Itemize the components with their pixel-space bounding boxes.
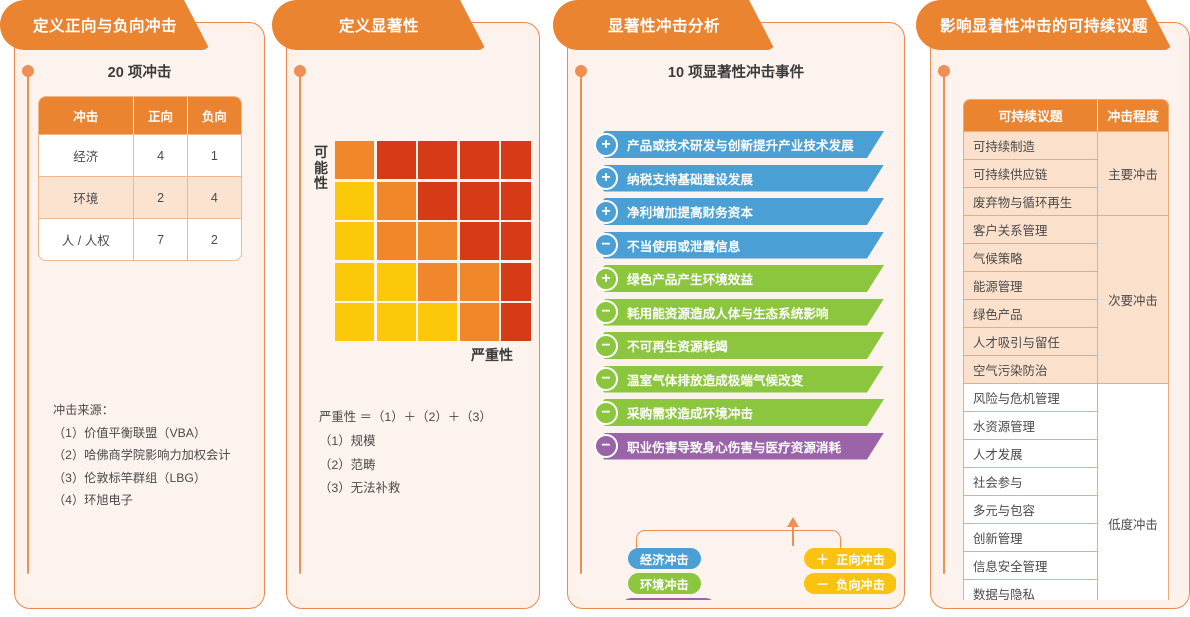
heatmap-cell-r1-c5 <box>501 141 531 179</box>
salient-impact-list: +产品或技术研发与创新提升产业技术发展+纳税支持基础建设发展+净利增加提高财务资… <box>594 131 888 466</box>
heatmap-cell-r1-c4 <box>460 141 499 179</box>
panel-3-title: 显著性冲击分析 <box>608 14 720 36</box>
cell-positive: 4 <box>134 134 188 176</box>
cell-negative: 1 <box>188 134 240 176</box>
panel-define-salience: 可能性 严重性 严重性 ＝（1）＋（2）＋（3） （1）规模 （2）范畴 （3）… <box>272 0 540 617</box>
minus-icon: － <box>816 574 829 593</box>
impact-bar[interactable]: −职业伤害导致身心伤害与医疗资源消耗 <box>594 433 888 460</box>
minus-circle-icon: − <box>594 367 618 391</box>
col-topic: 可持续议题 <box>964 100 1098 131</box>
panel-4-spine-dot <box>938 65 950 77</box>
panel-3-inner: 10 项显著性冲击事件 +产品或技术研发与创新提升产业技术发展+纳税支持基础建设… <box>576 31 896 600</box>
heatmap-cell-r1-c1 <box>335 141 374 179</box>
impact-bar[interactable]: +产品或技术研发与创新提升产业技术发展 <box>594 131 888 158</box>
impact-bar-label: 职业伤害导致身心伤害与医疗资源消耗 <box>627 437 841 456</box>
panel-4-title: 影响显着性冲击的可持续议题 <box>940 14 1148 36</box>
impact-sources: 冲击来源： （1）价值平衡联盟（VBA） （2）哈佛商学院影响力加权会计 （3）… <box>53 399 240 512</box>
table-row: 风险与危机管理低度冲击 <box>964 383 1168 411</box>
minus-circle-icon: − <box>594 434 618 458</box>
heatmap-cell-r5-c5 <box>501 303 531 341</box>
cell-topic: 能源管理 <box>964 271 1098 299</box>
heatmap-cell-r2-c1 <box>335 182 374 220</box>
impact-bar-label: 耗用能资源造成人体与生态系统影响 <box>627 303 829 322</box>
cell-topic: 可持续制造 <box>964 131 1098 159</box>
impact-bar[interactable]: −不当使用或泄露信息 <box>594 232 888 259</box>
infographic-stage: 20 项冲击 冲击 正向 负向 经济 <box>0 0 1190 617</box>
impact-bar[interactable]: +绿色产品产生环境效益 <box>594 265 888 292</box>
heatmap-cell-r4-c4 <box>460 263 499 301</box>
severity-formula: 严重性 ＝（1）＋（2）＋（3） <box>319 406 517 430</box>
panel-2-header-tab: 定义显著性 <box>272 0 486 50</box>
impact-bar-label: 绿色产品产生环境效益 <box>627 269 753 288</box>
cell-topic: 数据与隐私 <box>964 579 1098 600</box>
impact-bar[interactable]: +纳税支持基础建设发展 <box>594 165 888 192</box>
minus-circle-icon: − <box>594 334 618 358</box>
heatmap-cell-r4-c3 <box>418 263 457 301</box>
panel-1-body: 20 项冲击 冲击 正向 负向 经济 <box>14 22 265 609</box>
legend-economic: 经济冲击 <box>628 548 701 569</box>
cell-impact-level: 次要冲击 <box>1098 215 1168 383</box>
cell-negative: 4 <box>188 176 240 218</box>
heatmap-cell-r3-c3 <box>418 222 457 260</box>
impact-bar[interactable]: −不可再生资源耗竭 <box>594 332 888 359</box>
legend-negative: － 负向冲击 <box>804 573 896 594</box>
panel-1-spine-dot <box>22 65 34 77</box>
panel-4-header-tab: 影响显着性冲击的可持续议题 <box>916 0 1172 50</box>
panel-2-body: 可能性 严重性 严重性 ＝（1）＋（2）＋（3） （1）规模 （2）范畴 （3）… <box>286 22 540 609</box>
heatmap-cell-r2-c3 <box>418 182 457 220</box>
cell-negative: 2 <box>188 218 240 260</box>
cell-category: 环境 <box>39 176 134 218</box>
table-row: 经济 4 1 <box>39 134 241 176</box>
heatmap-cell-r3-c2 <box>377 222 416 260</box>
plus-circle-icon: + <box>594 267 618 291</box>
heatmap-cell-r5-c1 <box>335 303 374 341</box>
impact-bar-label: 不当使用或泄露信息 <box>627 236 740 255</box>
table-header-row: 冲击 正向 负向 <box>39 97 241 134</box>
panel-define-impacts: 20 项冲击 冲击 正向 负向 经济 <box>0 0 265 617</box>
impact-bar[interactable]: +净利增加提高财务资本 <box>594 198 888 225</box>
col-positive: 正向 <box>134 97 188 134</box>
impact-bar[interactable]: −耗用能资源造成人体与生态系统影响 <box>594 299 888 326</box>
plus-circle-icon: + <box>594 200 618 224</box>
impact-legend: 经济冲击 环境冲击 人 / 人权冲击 ＋ 正向冲击 － 负向冲击 <box>586 516 890 600</box>
cell-topic: 水资源管理 <box>964 411 1098 439</box>
legend-human-rights: 人 / 人权冲击 <box>621 598 716 600</box>
table-row: 环境 2 4 <box>39 176 241 218</box>
cell-category: 经济 <box>39 134 134 176</box>
minus-circle-icon: − <box>594 233 618 257</box>
cell-category: 人 / 人权 <box>39 218 134 260</box>
cell-topic: 风险与危机管理 <box>964 383 1098 411</box>
cell-topic: 创新管理 <box>964 523 1098 551</box>
table-row: 人 / 人权 7 2 <box>39 218 241 260</box>
source-item: （2）哈佛商学院影响力加权会计 <box>53 444 240 467</box>
heatmap-cell-r3-c1 <box>335 222 374 260</box>
cell-impact-level: 主要冲击 <box>1098 131 1168 215</box>
col-negative: 负向 <box>188 97 240 134</box>
panel-3-header-tab: 显著性冲击分析 <box>553 0 775 50</box>
cell-impact-level: 低度冲击 <box>1098 383 1168 600</box>
panel-salient-impact-analysis: 10 项显著性冲击事件 +产品或技术研发与创新提升产业技术发展+纳税支持基础建设… <box>553 0 905 617</box>
panel-1-title: 定义正向与负向冲击 <box>33 14 177 36</box>
heatmap-grid <box>335 141 531 341</box>
severity-factor: （1）规模 <box>319 430 517 454</box>
heatmap-cell-r3-c5 <box>501 222 531 260</box>
legend-negative-label: 负向冲击 <box>836 575 885 593</box>
cell-topic: 气候策略 <box>964 243 1098 271</box>
panel-2-inner: 可能性 严重性 严重性 ＝（1）＋（2）＋（3） （1）规模 （2）范畴 （3）… <box>295 31 531 600</box>
impact-bar-label: 纳税支持基础建设发展 <box>627 169 753 188</box>
heatmap-cell-r2-c5 <box>501 182 531 220</box>
severity-factor: （2）范畴 <box>319 454 517 478</box>
up-arrow-icon <box>787 517 799 527</box>
heatmap-cell-r5-c3 <box>418 303 457 341</box>
panel-3-spine-dot <box>575 65 587 77</box>
legend-environment: 环境冲击 <box>628 573 701 594</box>
impacts-table-wrapper: 冲击 正向 负向 经济 4 1 环境 <box>38 96 242 261</box>
heatmap-cell-r3-c4 <box>460 222 499 260</box>
panel-1-section-title: 20 项冲击 <box>23 61 256 82</box>
impact-bar-label: 采购需求造成环境冲击 <box>627 403 753 422</box>
heatmap-cell-r4-c1 <box>335 263 374 301</box>
source-item: （3）伦敦标竿群组（LBG） <box>53 467 240 490</box>
heatmap-cell-r5-c2 <box>377 303 416 341</box>
legend-positive-label: 正向冲击 <box>836 550 885 568</box>
cell-topic: 人才吸引与留任 <box>964 327 1098 355</box>
legend-human-rights-label: 人 / 人权冲击 <box>633 600 704 601</box>
heatmap-x-axis-label: 严重性 <box>471 345 513 365</box>
cell-topic: 信息安全管理 <box>964 551 1098 579</box>
minus-circle-icon: − <box>594 300 618 324</box>
heatmap-cell-r1-c2 <box>377 141 416 179</box>
panel-3-body: 10 项显著性冲击事件 +产品或技术研发与创新提升产业技术发展+纳税支持基础建设… <box>567 22 905 609</box>
panel-4-body: 可持续议题 冲击程度 可持续制造主要冲击可持续供应链废弃物与循环再生客户关系管理… <box>930 22 1190 609</box>
source-item: （4）环旭电子 <box>53 489 240 512</box>
cell-topic: 可持续供应链 <box>964 159 1098 187</box>
plus-icon: ＋ <box>816 549 829 568</box>
impact-bar-label: 净利增加提高财务资本 <box>627 202 753 221</box>
legend-environment-label: 环境冲击 <box>640 575 689 593</box>
panel-2-title: 定义显著性 <box>339 14 419 36</box>
heatmap-cell-r5-c4 <box>460 303 499 341</box>
source-item: （1）价值平衡联盟（VBA） <box>53 422 240 445</box>
col-impact: 冲击 <box>39 97 134 134</box>
topics-table-wrapper: 可持续议题 冲击程度 可持续制造主要冲击可持续供应链废弃物与循环再生客户关系管理… <box>963 99 1169 600</box>
cell-topic: 客户关系管理 <box>964 215 1098 243</box>
heatmap-y-axis-label: 可能性 <box>313 145 329 192</box>
heatmap-cell-r2-c4 <box>460 182 499 220</box>
panel-2-spine-dot <box>294 65 306 77</box>
heatmap-cell-r2-c2 <box>377 182 416 220</box>
minus-circle-icon: − <box>594 401 618 425</box>
severity-definition: 严重性 ＝（1）＋（2）＋（3） （1）规模 （2）范畴 （3）无法补救 <box>319 406 517 501</box>
cell-positive: 2 <box>134 176 188 218</box>
cell-topic: 废弃物与循环再生 <box>964 187 1098 215</box>
impact-bar[interactable]: −采购需求造成环境冲击 <box>594 399 888 426</box>
cell-topic: 绿色产品 <box>964 299 1098 327</box>
table-row: 客户关系管理次要冲击 <box>964 215 1168 243</box>
salience-heatmap: 可能性 严重性 <box>295 123 531 353</box>
table-row: 可持续制造主要冲击 <box>964 131 1168 159</box>
impacts-table: 冲击 正向 负向 经济 4 1 环境 <box>38 96 242 261</box>
severity-factor: （3）无法补救 <box>319 477 517 501</box>
table-header-row: 可持续议题 冲击程度 <box>964 100 1168 131</box>
col-impact-level: 冲击程度 <box>1098 100 1168 131</box>
sources-heading: 冲击来源： <box>53 399 240 422</box>
impact-bar-label: 不可再生资源耗竭 <box>627 336 728 355</box>
panel-1-inner: 20 项冲击 冲击 正向 负向 经济 <box>23 31 256 600</box>
panel-3-section-title: 10 项显著性冲击事件 <box>576 61 896 82</box>
panel-sustainability-topics: 可持续议题 冲击程度 可持续制造主要冲击可持续供应链废弃物与循环再生客户关系管理… <box>916 0 1190 617</box>
heatmap-cell-r1-c3 <box>418 141 457 179</box>
legend-bracket-stem <box>792 526 794 546</box>
legend-positive: ＋ 正向冲击 <box>804 548 896 569</box>
cell-topic: 社会参与 <box>964 467 1098 495</box>
heatmap-cell-r4-c2 <box>377 263 416 301</box>
panel-4-inner: 可持续议题 冲击程度 可持续制造主要冲击可持续供应链废弃物与循环再生客户关系管理… <box>939 31 1181 600</box>
legend-economic-label: 经济冲击 <box>640 550 689 568</box>
topics-table: 可持续议题 冲击程度 可持续制造主要冲击可持续供应链废弃物与循环再生客户关系管理… <box>963 99 1169 600</box>
plus-circle-icon: + <box>594 133 618 157</box>
heatmap-cell-r4-c5 <box>501 263 531 301</box>
cell-positive: 7 <box>134 218 188 260</box>
cell-topic: 人才发展 <box>964 439 1098 467</box>
panel-1-header-tab: 定义正向与负向冲击 <box>0 0 210 50</box>
impact-bar[interactable]: −温室气体排放造成极端气候改变 <box>594 366 888 393</box>
impact-bar-label: 产品或技术研发与创新提升产业技术发展 <box>627 135 854 154</box>
impact-bar-label: 温室气体排放造成极端气候改变 <box>627 370 803 389</box>
cell-topic: 空气污染防治 <box>964 355 1098 383</box>
cell-topic: 多元与包容 <box>964 495 1098 523</box>
plus-circle-icon: + <box>594 166 618 190</box>
